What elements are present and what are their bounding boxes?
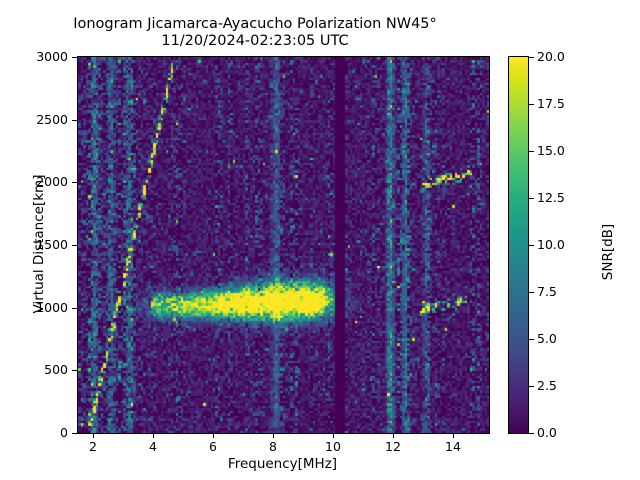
x-tick-mark — [333, 433, 334, 438]
y-tick-mark — [72, 308, 77, 309]
x-tick-label: 12 — [368, 441, 418, 454]
y-tick-mark — [72, 245, 77, 246]
y-tick-mark — [72, 433, 77, 434]
x-tick-mark — [93, 433, 94, 438]
ionogram-plot-area[interactable] — [77, 56, 490, 434]
x-tick-mark — [273, 433, 274, 438]
colorbar-tick-label: 12.5 — [537, 192, 565, 205]
y-tick-label: 2000 — [0, 176, 68, 189]
colorbar-tick-mark — [529, 339, 534, 340]
colorbar[interactable] — [508, 56, 529, 434]
y-tick-label: 2500 — [0, 114, 68, 127]
ionogram-heatmap-canvas — [78, 57, 489, 433]
colorbar-tick-mark — [529, 433, 534, 434]
y-tick-label: 3000 — [0, 51, 68, 64]
colorbar-tick-label: 5.0 — [537, 333, 557, 346]
colorbar-tick-label: 0.0 — [537, 427, 557, 440]
colorbar-tick-label: 17.5 — [537, 98, 565, 111]
colorbar-tick-mark — [529, 104, 534, 105]
y-tick-mark — [72, 120, 77, 121]
colorbar-tick-mark — [529, 386, 534, 387]
y-tick-mark — [72, 57, 77, 58]
x-tick-label: 6 — [188, 441, 238, 454]
x-tick-mark — [393, 433, 394, 438]
x-tick-label: 4 — [128, 441, 178, 454]
colorbar-tick-label: 20.0 — [537, 51, 565, 64]
x-tick-mark — [213, 433, 214, 438]
title-line-1: Ionogram Jicamarca-Ayacucho Polarization… — [0, 16, 510, 33]
colorbar-tick-label: 10.0 — [537, 239, 565, 252]
y-tick-label: 500 — [0, 364, 68, 377]
colorbar-tick-mark — [529, 151, 534, 152]
colorbar-tick-mark — [529, 245, 534, 246]
x-tick-mark — [153, 433, 154, 438]
y-tick-mark — [72, 182, 77, 183]
title-line-2: 11/20/2024-02:23:05 UTC — [0, 33, 510, 50]
colorbar-tick-label: 2.5 — [537, 380, 557, 393]
colorbar-tick-mark — [529, 198, 534, 199]
y-tick-label: 1500 — [0, 239, 68, 252]
x-axis-label: Frequency[MHz] — [77, 456, 488, 472]
ionogram-figure: Ionogram Jicamarca-Ayacucho Polarization… — [0, 0, 640, 480]
x-tick-label: 14 — [428, 441, 478, 454]
colorbar-label: SNR[dB] — [600, 152, 616, 352]
y-tick-mark — [72, 370, 77, 371]
colorbar-tick-label: 15.0 — [537, 145, 565, 158]
x-tick-label: 10 — [308, 441, 358, 454]
page-title: Ionogram Jicamarca-Ayacucho Polarization… — [0, 16, 510, 50]
y-tick-label: 1000 — [0, 302, 68, 315]
y-tick-label: 0 — [0, 427, 68, 440]
colorbar-tick-mark — [529, 57, 534, 58]
x-tick-label: 8 — [248, 441, 298, 454]
x-tick-mark — [453, 433, 454, 438]
colorbar-gradient — [509, 57, 528, 433]
colorbar-tick-mark — [529, 292, 534, 293]
x-tick-label: 2 — [68, 441, 118, 454]
colorbar-tick-label: 7.5 — [537, 286, 557, 299]
